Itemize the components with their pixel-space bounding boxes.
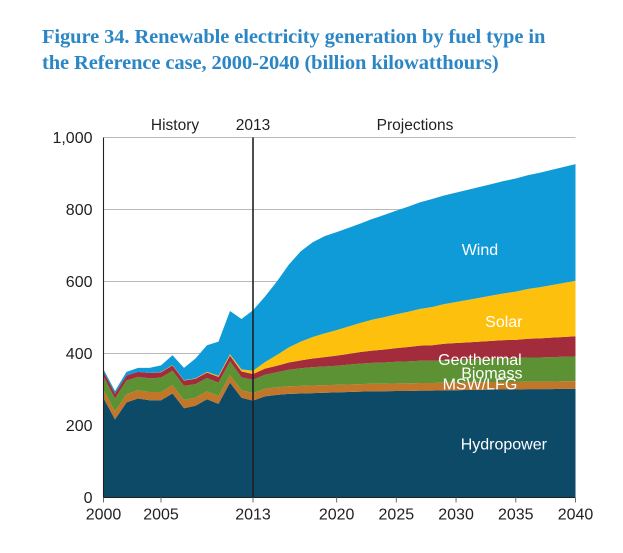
x-tick-label: 2020 xyxy=(319,507,355,524)
projections-label: Projections xyxy=(377,117,454,134)
y-tick-label: 200 xyxy=(66,418,93,435)
divider-year-label: 2013 xyxy=(236,117,270,134)
stacked-area-chart: 02004006008001,0002000200520132020202520… xyxy=(0,0,623,553)
y-tick-label: 0 xyxy=(84,490,93,507)
x-tick-label: 2000 xyxy=(86,507,122,524)
series-label-wind: Wind xyxy=(462,242,498,259)
series-label-solar: Solar xyxy=(485,314,523,331)
history-label: History xyxy=(151,117,199,134)
x-tick-label: 2005 xyxy=(143,507,179,524)
x-tick-label: 2040 xyxy=(558,507,594,524)
x-tick-label: 2013 xyxy=(235,507,271,524)
y-tick-label: 1,000 xyxy=(52,130,92,147)
series-label-geothermal: Geothermal xyxy=(438,352,522,369)
y-tick-label: 400 xyxy=(66,346,93,363)
series-label-hydropower: Hydropower xyxy=(461,437,548,454)
x-tick-label: 2025 xyxy=(379,507,415,524)
figure-container: Figure 34. Renewable electricity generat… xyxy=(0,0,623,553)
y-tick-label: 600 xyxy=(66,274,93,291)
era-labels-group: History2013Projections xyxy=(151,117,454,134)
x-tick-label: 2035 xyxy=(498,507,534,524)
y-tick-label: 800 xyxy=(66,202,93,219)
x-tick-label: 2030 xyxy=(438,507,474,524)
